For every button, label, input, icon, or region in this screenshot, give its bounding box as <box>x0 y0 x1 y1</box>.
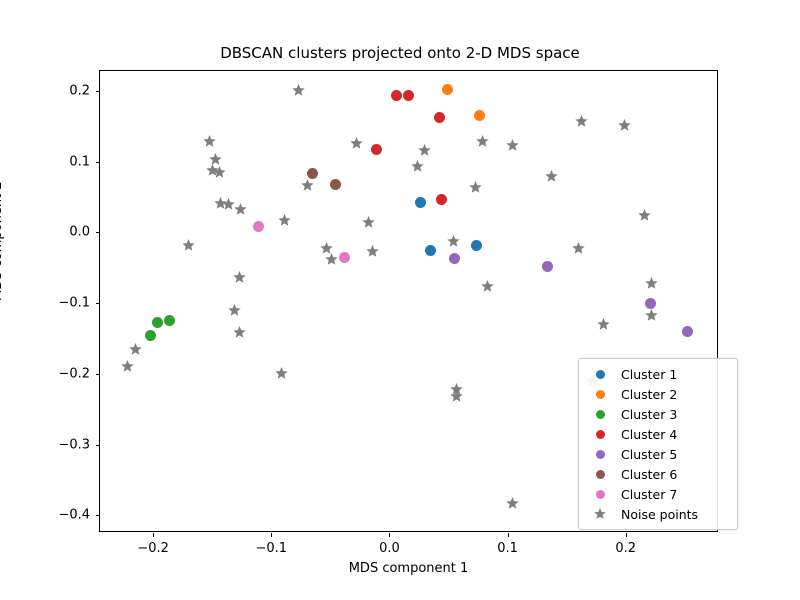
noise-point-marker <box>233 271 246 284</box>
x-tick <box>271 533 272 537</box>
noise-point-marker <box>228 304 241 317</box>
y-tick-label: 0.2 <box>69 83 90 98</box>
chart-title: DBSCAN clusters projected onto 2-D MDS s… <box>0 44 800 62</box>
y-tick-label: −0.2 <box>58 366 90 381</box>
noise-point-marker <box>506 497 519 510</box>
noise-point-marker <box>275 367 288 380</box>
cluster-point-marker <box>371 144 382 155</box>
x-tick <box>626 533 627 537</box>
x-tick-label: 0.2 <box>615 541 636 556</box>
legend-label: Cluster 6 <box>621 467 677 482</box>
x-tick-label: −0.2 <box>137 541 169 556</box>
noise-point-marker <box>182 239 195 252</box>
noise-point-marker <box>418 144 431 157</box>
cluster-point-marker <box>391 90 402 101</box>
legend: Cluster 1Cluster 2Cluster 3Cluster 4Clus… <box>578 358 738 530</box>
cluster-point-marker <box>152 317 163 328</box>
x-tick <box>508 533 509 537</box>
y-tick <box>96 162 100 163</box>
noise-point-marker <box>301 179 314 192</box>
noise-point-marker <box>481 280 494 293</box>
cluster-point-marker <box>164 315 175 326</box>
cluster-point-marker <box>339 252 350 263</box>
legend-dot-icon <box>585 390 615 399</box>
y-tick-label: −0.1 <box>58 296 90 311</box>
legend-label: Cluster 5 <box>621 447 677 462</box>
legend-item[interactable]: Cluster 1 <box>585 364 731 384</box>
noise-point-marker <box>575 115 588 128</box>
legend-dot-icon <box>585 370 615 379</box>
noise-point-marker <box>572 242 585 255</box>
noise-point-marker <box>325 253 338 266</box>
legend-dot-icon <box>585 450 615 459</box>
noise-point-marker <box>645 309 658 322</box>
y-tick <box>96 445 100 446</box>
cluster-point-marker <box>474 110 485 121</box>
y-tick <box>96 303 100 304</box>
legend-item[interactable]: Cluster 7 <box>585 484 731 504</box>
y-tick <box>96 91 100 92</box>
noise-point-marker <box>203 135 216 148</box>
cluster-point-marker <box>307 168 318 179</box>
noise-point-marker <box>545 170 558 183</box>
y-axis-label: MDS component 2 <box>0 181 5 301</box>
noise-point-marker <box>362 216 375 229</box>
legend-item[interactable]: Cluster 6 <box>585 464 731 484</box>
cluster-point-marker <box>145 330 156 341</box>
cluster-point-marker <box>434 112 445 123</box>
noise-point-marker <box>234 203 247 216</box>
cluster-point-marker <box>645 298 656 309</box>
cluster-point-marker <box>682 326 693 337</box>
legend-item[interactable]: Cluster 4 <box>585 424 731 444</box>
legend-item[interactable]: Cluster 2 <box>585 384 731 404</box>
x-tick-label: −0.1 <box>255 541 287 556</box>
noise-point-marker <box>506 139 519 152</box>
y-tick-label: 0.0 <box>69 225 90 240</box>
legend-dot-icon <box>585 410 615 419</box>
noise-point-marker <box>366 245 379 258</box>
noise-point-marker <box>233 326 246 339</box>
noise-point-marker <box>213 166 226 179</box>
noise-point-marker <box>411 160 424 173</box>
noise-point-marker <box>618 119 631 132</box>
noise-point-marker <box>469 181 482 194</box>
cluster-point-marker <box>442 84 453 95</box>
cluster-point-marker <box>436 194 447 205</box>
legend-dot-icon <box>585 470 615 479</box>
legend-label: Cluster 7 <box>621 487 677 502</box>
cluster-point-marker <box>542 261 553 272</box>
x-tick-label: 0.1 <box>497 541 518 556</box>
legend-label: Cluster 2 <box>621 387 677 402</box>
cluster-point-marker <box>330 179 341 190</box>
legend-label: Cluster 1 <box>621 367 677 382</box>
x-axis-label: MDS component 1 <box>99 561 718 576</box>
cluster-point-marker <box>425 245 436 256</box>
y-tick <box>96 232 100 233</box>
legend-label: Noise points <box>621 507 698 522</box>
x-tick-label: 0.0 <box>379 541 400 556</box>
legend-dot-icon <box>585 430 615 439</box>
x-tick <box>389 533 390 537</box>
legend-dot-icon <box>585 490 615 499</box>
noise-point-marker <box>350 137 363 150</box>
cluster-point-marker <box>415 197 426 208</box>
noise-point-marker <box>278 214 291 227</box>
noise-point-marker <box>476 135 489 148</box>
cluster-point-marker <box>403 90 414 101</box>
figure: DBSCAN clusters projected onto 2-D MDS s… <box>0 0 800 600</box>
legend-star-icon <box>585 508 615 520</box>
noise-point-marker <box>129 343 142 356</box>
y-tick <box>96 374 100 375</box>
noise-point-marker <box>450 390 463 403</box>
y-tick-label: −0.4 <box>58 508 90 523</box>
noise-point-marker <box>645 277 658 290</box>
legend-item[interactable]: Cluster 3 <box>585 404 731 424</box>
legend-item[interactable]: Cluster 5 <box>585 444 731 464</box>
noise-point-marker <box>597 318 610 331</box>
noise-point-marker <box>292 84 305 97</box>
cluster-point-marker <box>253 221 264 232</box>
y-tick-label: −0.3 <box>58 437 90 452</box>
cluster-point-marker <box>471 240 482 251</box>
legend-item[interactable]: Noise points <box>585 504 731 524</box>
y-tick-label: 0.1 <box>69 154 90 169</box>
noise-point-marker <box>447 235 460 248</box>
legend-label: Cluster 3 <box>621 407 677 422</box>
cluster-point-marker <box>449 253 460 264</box>
legend-label: Cluster 4 <box>621 427 677 442</box>
noise-point-marker <box>638 209 651 222</box>
x-tick <box>153 533 154 537</box>
noise-point-marker <box>121 360 134 373</box>
y-tick <box>96 515 100 516</box>
